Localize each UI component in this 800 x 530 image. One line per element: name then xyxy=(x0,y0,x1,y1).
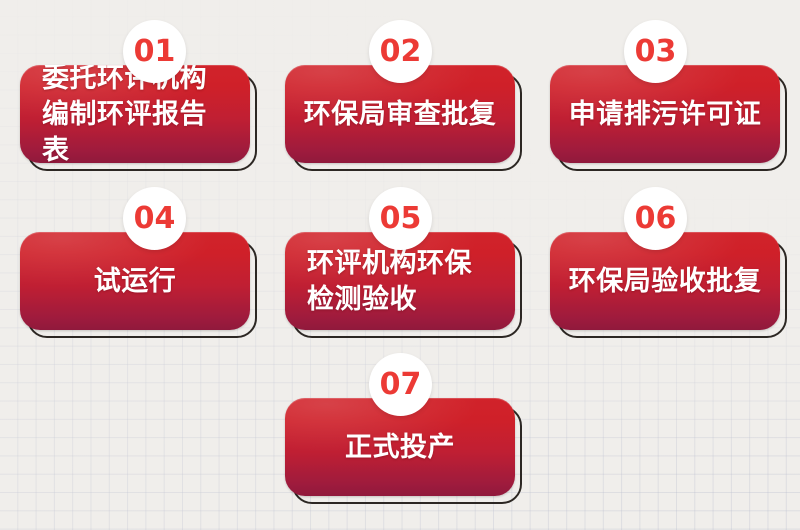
step-label-03: 申请排污许可证 xyxy=(550,96,780,132)
step-label-07: 正式投产 xyxy=(285,429,515,465)
step-number-02: 02 xyxy=(380,37,422,67)
step-badge-04: 04 xyxy=(123,187,186,250)
step-number-03: 03 xyxy=(635,37,677,67)
step-number-04: 04 xyxy=(134,204,176,234)
step-badge-05: 05 xyxy=(369,187,432,250)
step-label-04: 试运行 xyxy=(20,263,250,299)
step-badge-01: 01 xyxy=(123,20,186,83)
step-label-02: 环保局审查批复 xyxy=(285,96,515,132)
step-label-05: 环评机构环保检测验收 xyxy=(285,245,515,317)
card-body-04[interactable]: 试运行 xyxy=(20,232,250,330)
flow-diagram-canvas: 委托环评机构编制环评报告表 01 环保局审查批复 02 申请排污许可证 03 试… xyxy=(0,0,800,530)
card-body-01[interactable]: 委托环评机构编制环评报告表 xyxy=(20,65,250,163)
step-number-01: 01 xyxy=(134,37,176,67)
step-badge-06: 06 xyxy=(624,187,687,250)
step-label-06: 环保局验收批复 xyxy=(550,263,780,299)
step-badge-02: 02 xyxy=(369,20,432,83)
step-number-07: 07 xyxy=(380,370,422,400)
step-badge-03: 03 xyxy=(624,20,687,83)
step-number-05: 05 xyxy=(380,204,422,234)
step-number-06: 06 xyxy=(635,204,677,234)
step-label-01: 委托环评机构编制环评报告表 xyxy=(20,65,250,163)
step-badge-07: 07 xyxy=(369,353,432,416)
